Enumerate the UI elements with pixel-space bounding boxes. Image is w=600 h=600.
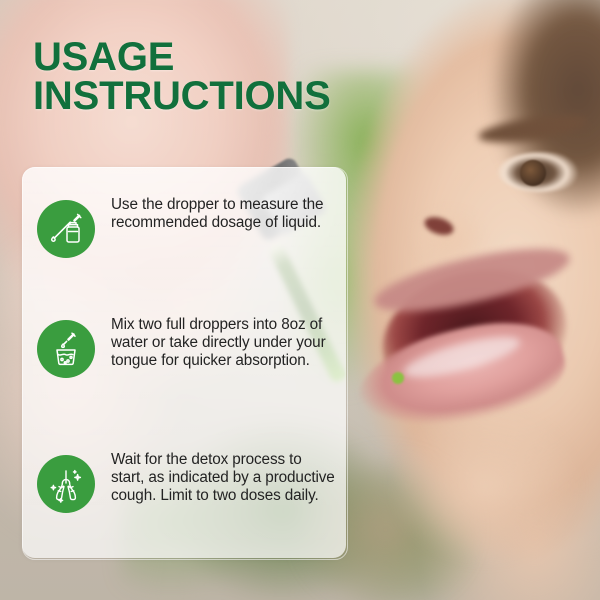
list-item: Mix two full droppers into 8oz of water … (37, 318, 337, 378)
poster-canvas: USAGE INSTRUCTIONS Use the d (0, 0, 600, 600)
list-item-label: Mix two full droppers into 8oz of water … (111, 316, 337, 371)
list-item: Wait for the detox process to start, as … (37, 453, 337, 513)
girl-chin (380, 410, 600, 600)
lungs-sparkle-icon (37, 455, 95, 513)
dropper-bottle-icon (37, 200, 95, 258)
dropper-glass-icon (37, 320, 95, 378)
pipette-tip-drop (392, 372, 404, 384)
girl-pupil (520, 160, 546, 186)
instructions-panel: Use the dropper to measure the recommend… (22, 167, 346, 558)
page-title: USAGE INSTRUCTIONS (33, 38, 331, 116)
list-item-label: Wait for the detox process to start, as … (111, 451, 337, 506)
list-item: Use the dropper to measure the recommend… (37, 198, 337, 258)
list-item-label: Use the dropper to measure the recommend… (111, 196, 337, 232)
instruction-list: Use the dropper to measure the recommend… (22, 167, 346, 558)
